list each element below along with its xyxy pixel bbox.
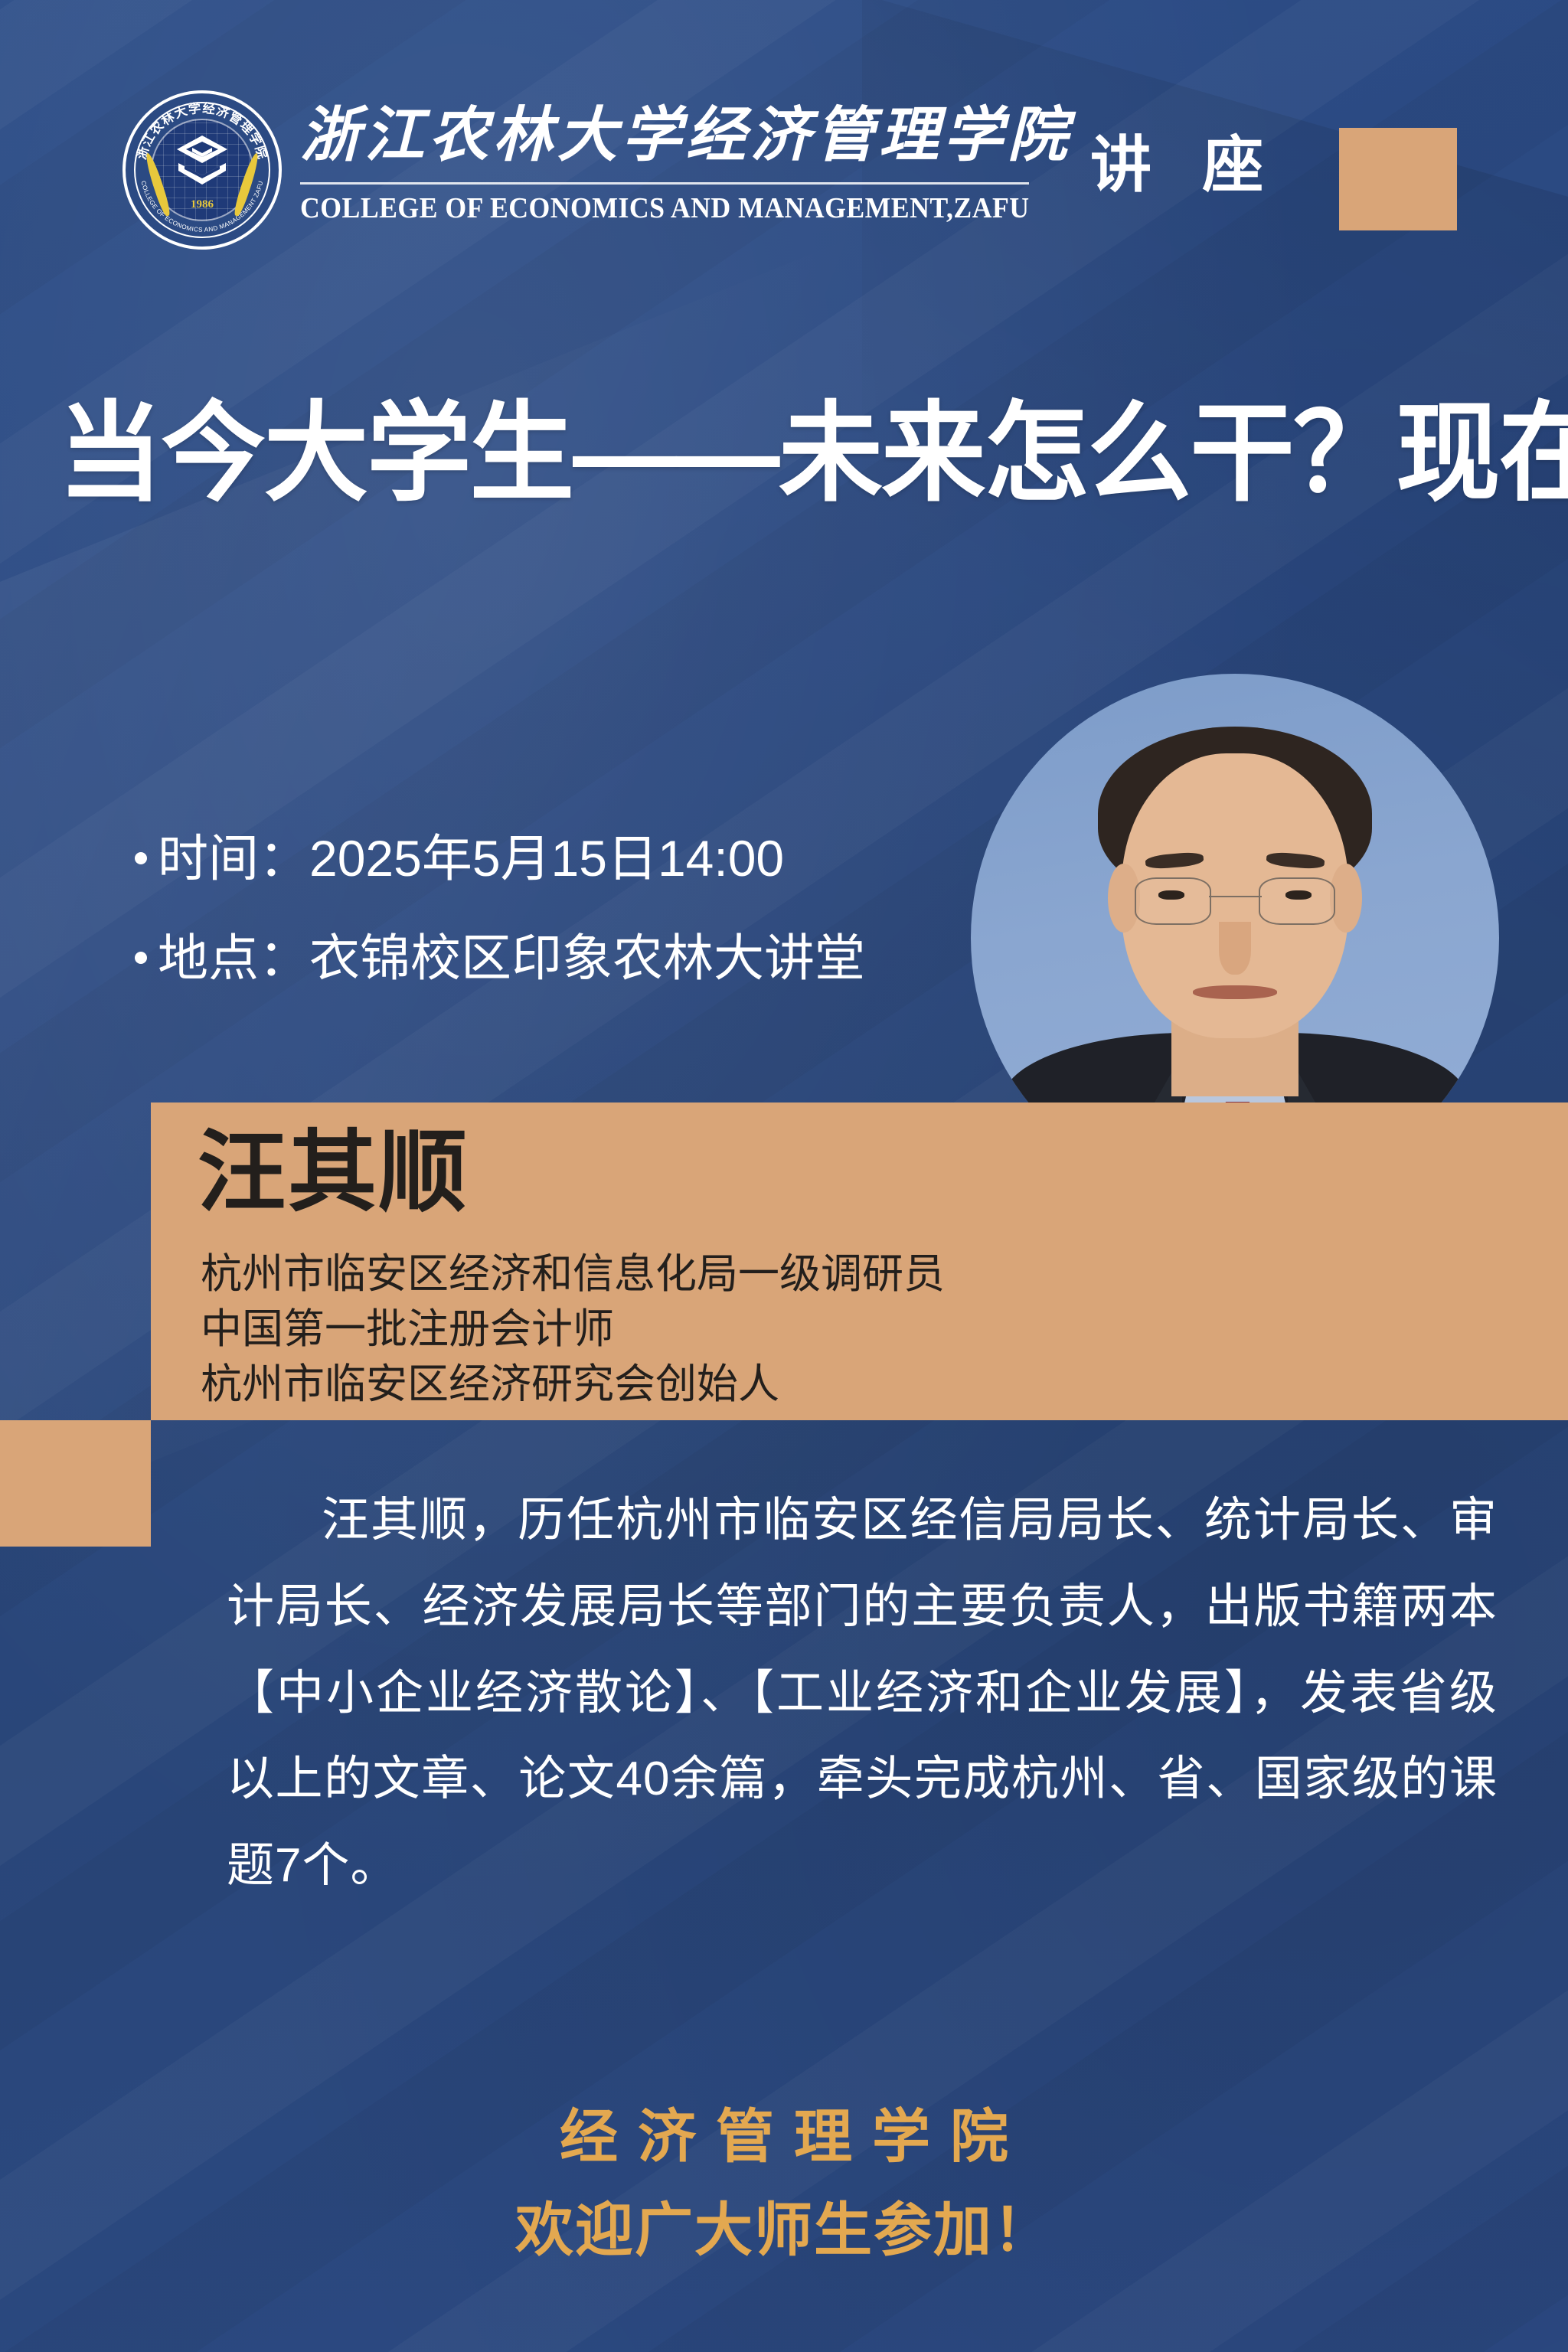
portrait-mouth (1193, 985, 1277, 999)
event-location-text: 地点：衣锦校区印象农林大讲堂 (158, 933, 865, 983)
portrait-glasses-left (1135, 877, 1212, 926)
portrait-glasses-bridge (1209, 896, 1262, 897)
portrait-nose (1219, 922, 1250, 975)
portrait-glasses-right (1259, 877, 1336, 926)
credential-line: 中国第一批注册会计师 (201, 1303, 945, 1356)
credential-line: 杭州市临安区经济研究会创始人 (201, 1358, 945, 1411)
speaker-name: 汪其顺 (198, 1128, 469, 1217)
organizer-label: 经济管理学院 (0, 2109, 1568, 2167)
event-info-list: 时间：2025年5月15日14:00 地点：衣锦校区印象农林大讲堂 (135, 833, 865, 1032)
portrait-eye-right (1285, 890, 1312, 900)
poster-footer: 经济管理学院 欢迎广大师生参加！ (0, 2109, 1568, 2260)
portrait-eye-left (1158, 890, 1185, 900)
credential-line: 杭州市临安区经济和信息化局一级调研员 (201, 1248, 945, 1301)
list-item: 地点：衣锦校区印象农林大讲堂 (135, 933, 865, 983)
seal-book-emblem (172, 131, 232, 191)
event-time-text: 时间：2025年5月15日14:00 (158, 833, 784, 884)
university-name-en: COLLEGE OF ECONOMICS AND MANAGEMENT,ZAFU (300, 191, 1030, 225)
invitation-label: 欢迎广大师生参加！ (0, 2202, 1568, 2260)
header-divider-rule (300, 182, 1029, 185)
speaker-credentials: 杭州市临安区经济和信息化局一级调研员 中国第一批注册会计师 杭州市临安区经济研究… (201, 1248, 945, 1413)
category-label: 讲 座 (1090, 135, 1280, 196)
accent-rectangle-top-right (1339, 128, 1457, 230)
university-name-cn: 浙江农林大学经济管理学院 (300, 106, 1072, 165)
seal-year: 1986 (126, 198, 279, 211)
college-seal-icon: 浙江农林大学经济管理学院 COLLEGE OF ECONOMICS AND MA… (122, 90, 282, 250)
speaker-biography: 汪其顺，历任杭州市临安区经信局局长、统计局长、审计局长、经济发展局长等部门的主要… (227, 1478, 1498, 1909)
bullet-dot-icon (135, 852, 147, 864)
page-title: 当今大学生——未来怎么干？现在怎么办？ (58, 395, 1469, 512)
list-item: 时间：2025年5月15日14:00 (135, 833, 865, 884)
lecture-poster: 浙江农林大学经济管理学院 COLLEGE OF ECONOMICS AND MA… (0, 0, 1568, 2352)
bullet-dot-icon (135, 952, 147, 964)
accent-block-lower-left (0, 1420, 151, 1547)
